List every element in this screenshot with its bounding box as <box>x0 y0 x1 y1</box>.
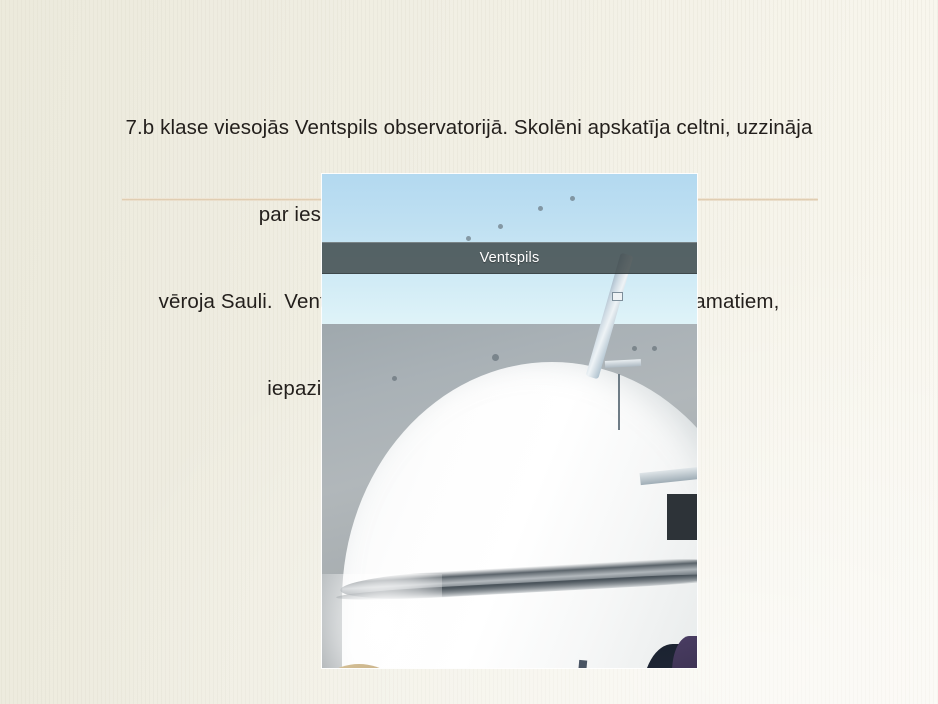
photo-dome-bolt <box>466 236 471 241</box>
photo-dome-bolt <box>492 354 499 361</box>
photo-dome-bolt <box>538 206 543 211</box>
photo-dome-bolt <box>498 224 503 229</box>
photo-dome-bolt <box>652 346 657 351</box>
observatory-photo: BLACK Ventspils <box>322 174 697 668</box>
photo-dome-bolt <box>632 346 637 351</box>
slide-canvas: 7.b klase viesojās Ventspils observatori… <box>0 0 938 704</box>
photo-highlight-glow <box>322 574 442 668</box>
photo-dome-strut-pin <box>612 292 623 301</box>
photo-dome-bolt <box>392 376 397 381</box>
photo-dome-rod <box>618 374 620 430</box>
body-text-line-1: 7.b klase viesojās Ventspils observatori… <box>46 113 892 142</box>
photo-dome-equipment-box <box>667 494 697 540</box>
photo-dome-bolt <box>570 196 575 201</box>
photo-caption-label: Ventspils <box>480 250 540 266</box>
photo-caption-bar: Ventspils <box>322 242 697 274</box>
